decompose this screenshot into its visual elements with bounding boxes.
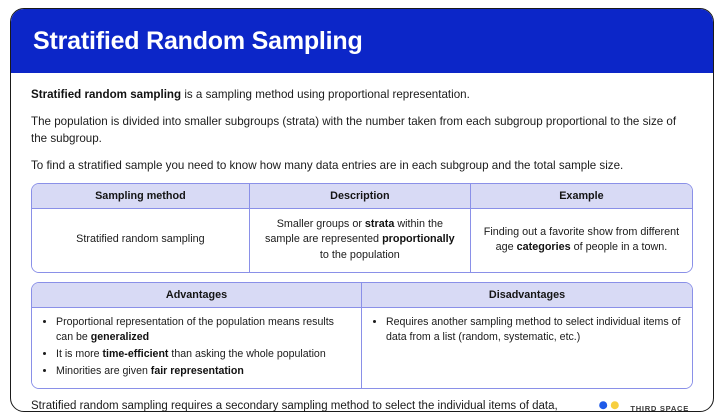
logo-line-1: THIRD SPACE [630, 405, 689, 412]
footer-note: Stratified random sampling requires a se… [31, 398, 594, 412]
adv-3-text-1: Minorities are given [56, 365, 151, 377]
advantages-list: Proportional representation of the popul… [40, 315, 353, 380]
sampling-method-table-body: Stratified random sampling Smaller group… [32, 209, 692, 272]
adv-1-bold: generalized [91, 331, 149, 343]
cell-disadvantages: Requires another sampling method to sele… [362, 308, 692, 389]
intro-paragraph-2: The population is divided into smaller s… [31, 114, 693, 147]
sampling-method-table: Sampling method Description Example Stra… [31, 183, 693, 273]
logo-wordmark: THIRD SPACE LEARNING [630, 405, 689, 412]
cell-example: Finding out a favorite show from differe… [471, 209, 692, 272]
list-item: It is more time-efficient than asking th… [56, 347, 353, 363]
card-body: Stratified random sampling is a sampling… [11, 73, 713, 412]
th-description: Description [250, 184, 471, 209]
table-header-row: Sampling method Description Example [32, 184, 692, 209]
table-header-row: Advantages Disadvantages [32, 283, 692, 308]
list-item: Requires another sampling method to sele… [386, 315, 684, 346]
pros-cons-table-head: Advantages Disadvantages [32, 283, 692, 308]
th-advantages: Advantages [32, 283, 362, 308]
table-row: Stratified random sampling Smaller group… [32, 209, 692, 272]
cell-advantages: Proportional representation of the popul… [32, 308, 362, 389]
desc-bold-strata: strata [365, 218, 394, 230]
th-example: Example [471, 184, 692, 209]
cell-description: Smaller groups or strata within the samp… [250, 209, 471, 272]
desc-text-3: to the population [320, 249, 400, 261]
desc-text-1: Smaller groups or [277, 218, 365, 230]
two-people-logo-icon [594, 400, 624, 412]
disadvantages-list: Requires another sampling method to sele… [370, 315, 684, 346]
adv-3-bold: fair representation [151, 365, 244, 377]
adv-2-bold: time-efficient [103, 348, 169, 360]
example-text-2: of people in a town. [571, 241, 668, 253]
th-disadvantages: Disadvantages [362, 283, 692, 308]
third-space-learning-logo: THIRD SPACE LEARNING [594, 400, 693, 412]
adv-2-text-2: than asking the whole population [168, 348, 325, 360]
desc-bold-proportionally: proportionally [382, 233, 455, 245]
adv-2-text-1: It is more [56, 348, 103, 360]
list-item: Minorities are given fair representation [56, 364, 353, 380]
th-sampling-method: Sampling method [32, 184, 250, 209]
lesson-card: Stratified Random Sampling Stratified ra… [10, 8, 714, 412]
pros-cons-table: Advantages Disadvantages Proportional re… [31, 282, 693, 390]
dis-1-text-1: Requires another sampling method to sele… [386, 316, 680, 344]
intro-paragraph-1: Stratified random sampling is a sampling… [31, 87, 693, 103]
intro-lead-term: Stratified random sampling [31, 88, 181, 101]
cell-method: Stratified random sampling [32, 209, 250, 272]
table-row: Proportional representation of the popul… [32, 308, 692, 389]
intro-paragraph-3: To find a stratified sample you need to … [31, 158, 693, 174]
example-bold-categories: categories [517, 241, 571, 253]
card-footer: Stratified random sampling requires a se… [31, 389, 693, 412]
sampling-method-table-head: Sampling method Description Example [32, 184, 692, 209]
list-item: Proportional representation of the popul… [56, 315, 353, 346]
intro-paragraph-1-rest: is a sampling method using proportional … [181, 88, 470, 101]
page-title: Stratified Random Sampling [33, 27, 363, 56]
card-header: Stratified Random Sampling [11, 9, 713, 73]
pros-cons-table-body: Proportional representation of the popul… [32, 308, 692, 389]
